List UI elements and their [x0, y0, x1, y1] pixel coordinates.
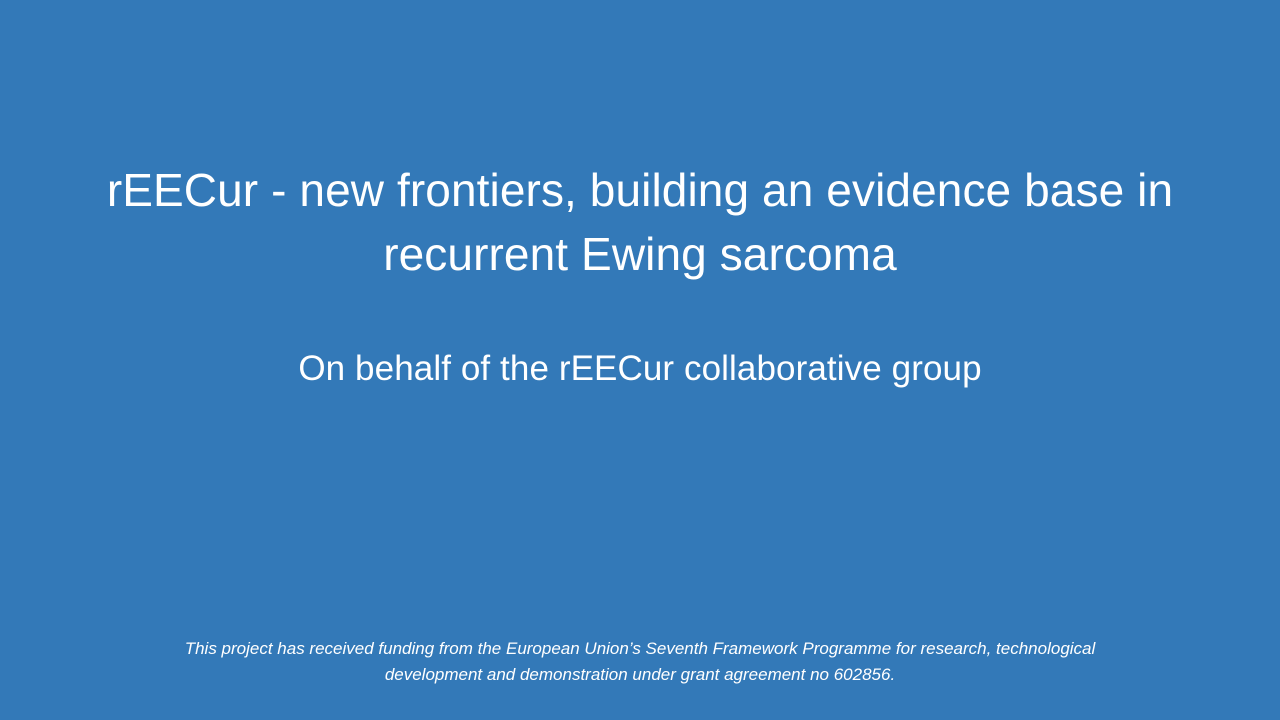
slide-subtitle: On behalf of the rEECur collaborative gr… — [0, 347, 1280, 391]
presentation-slide: rEECur - new frontiers, building an evid… — [0, 0, 1280, 720]
logo-strip: EURO EWING Consortium EEC — [0, 505, 1280, 615]
title-block: rEECur - new frontiers, building an evid… — [0, 158, 1280, 286]
page-title: rEECur - new frontiers, building an evid… — [0, 158, 1280, 286]
funding-statement: This project has received funding from t… — [0, 636, 1280, 688]
